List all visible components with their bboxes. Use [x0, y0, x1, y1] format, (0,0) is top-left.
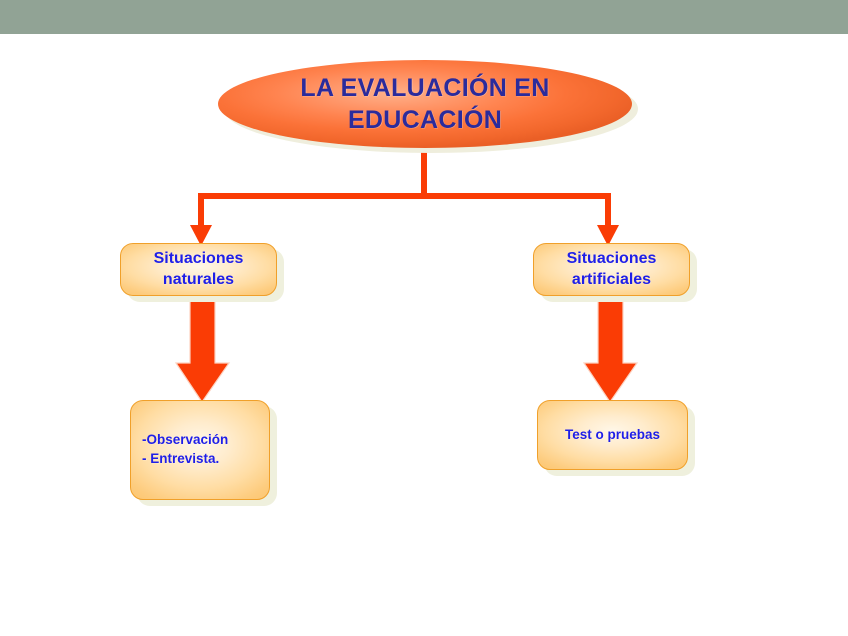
node-body: Situaciones artificiales: [533, 243, 690, 296]
node-observacion-entrevista[interactable]: -Observación - Entrevista.: [130, 400, 270, 500]
node-label-test-o-pruebas: Test o pruebas: [565, 426, 660, 445]
slide-canvas: LA EVALUACIÓN EN EDUCACIÓN Situaciones n…: [0, 0, 848, 636]
title-node-body: LA EVALUACIÓN EN EDUCACIÓN: [218, 60, 632, 148]
connector-naturales-to-observacion: [176, 292, 229, 402]
connector-artificiales-to-test: [584, 292, 637, 402]
title-node[interactable]: LA EVALUACIÓN EN EDUCACIÓN: [218, 60, 632, 148]
node-body: Situaciones naturales: [120, 243, 277, 296]
node-situaciones-naturales[interactable]: Situaciones naturales: [120, 243, 277, 296]
title-node-label: LA EVALUACIÓN EN EDUCACIÓN: [300, 72, 549, 136]
node-label-situaciones-naturales: Situaciones naturales: [154, 249, 244, 291]
node-situaciones-artificiales[interactable]: Situaciones artificiales: [533, 243, 690, 296]
connector-split-bar: [198, 193, 611, 199]
connector-split-to-naturales-shaft: [198, 193, 204, 228]
top-banner: [0, 0, 848, 34]
node-body: -Observación - Entrevista.: [130, 400, 270, 500]
connector-split-to-artificiales-shaft: [605, 193, 611, 228]
node-label-situaciones-artificiales: Situaciones artificiales: [567, 249, 657, 291]
node-label-observacion-entrevista: -Observación - Entrevista.: [142, 431, 228, 468]
diagram-canvas: LA EVALUACIÓN EN EDUCACIÓN Situaciones n…: [0, 34, 848, 636]
node-body: Test o pruebas: [537, 400, 688, 470]
node-test-o-pruebas[interactable]: Test o pruebas: [537, 400, 688, 470]
